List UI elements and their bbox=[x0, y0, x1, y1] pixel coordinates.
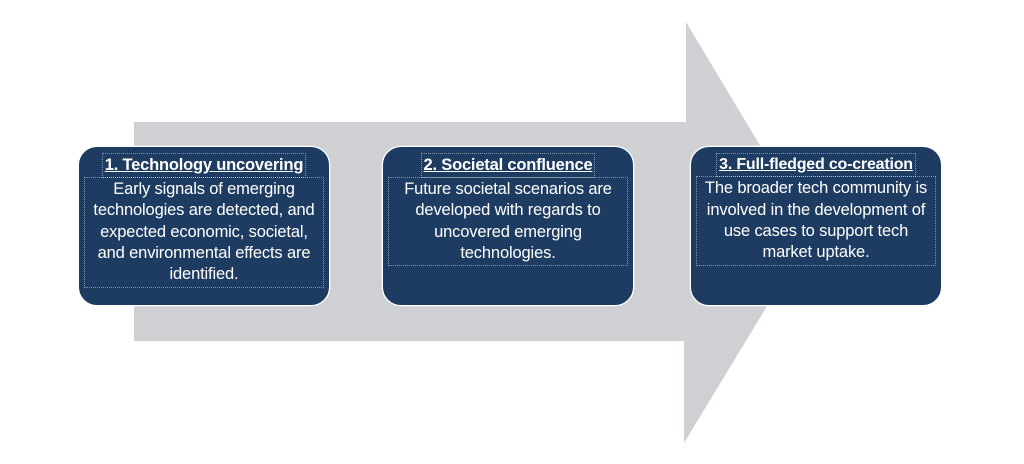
stage-2-title: 2. Societal confluence bbox=[423, 155, 594, 176]
stage-3-description: The broader tech community is involved i… bbox=[698, 178, 934, 263]
stage-1-description: Early signals of emerging technologies a… bbox=[86, 179, 322, 285]
stage-2-description: Future societal scenarios are developed … bbox=[390, 179, 626, 264]
stage-3-title: 3. Full-fledged co-creation bbox=[718, 155, 914, 175]
stage-box-1[interactable]: 1. Technology uncovering Early signals o… bbox=[78, 146, 330, 306]
stage-1-content: 1. Technology uncovering Early signals o… bbox=[86, 155, 322, 297]
stage-box-2[interactable]: 2. Societal confluence Future societal s… bbox=[382, 146, 634, 306]
stage-3-content: 3. Full-fledged co-creation The broader … bbox=[698, 155, 934, 297]
stage-1-title: 1. Technology uncovering bbox=[104, 155, 304, 176]
diagram-canvas: 1. Technology uncovering Early signals o… bbox=[0, 0, 1024, 464]
stage-box-3[interactable]: 3. Full-fledged co-creation The broader … bbox=[690, 146, 942, 306]
stage-2-content: 2. Societal confluence Future societal s… bbox=[390, 155, 626, 297]
